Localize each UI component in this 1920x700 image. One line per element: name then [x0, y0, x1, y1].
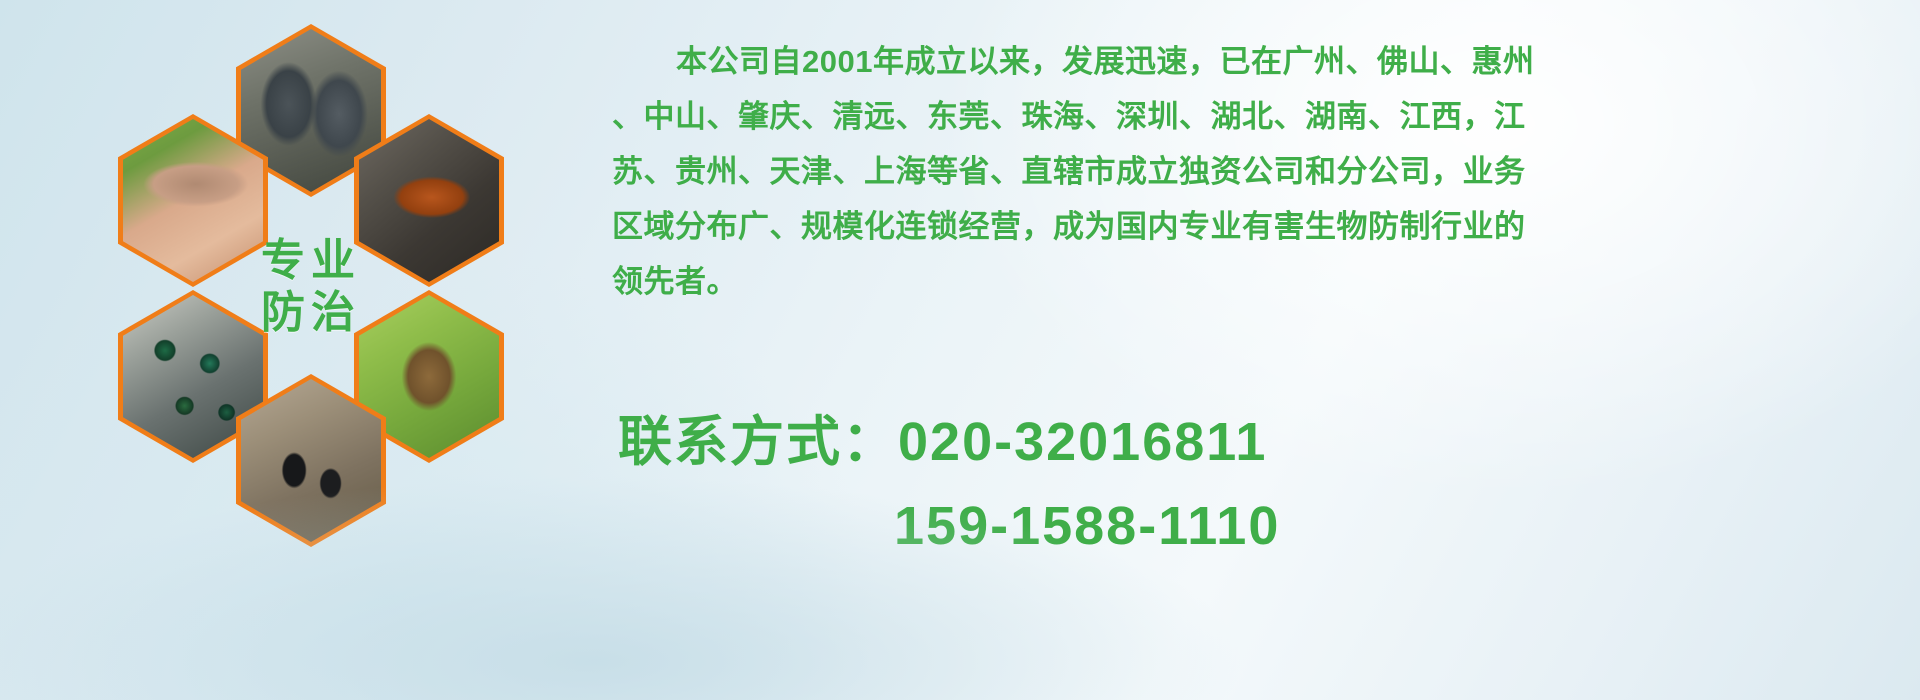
intro-line-text: 、中山、肇庆、清远、东莞、珠海、深圳、湖北、湖南、江西，江: [612, 99, 1526, 134]
phone-primary[interactable]: 020-32016811: [898, 412, 1267, 472]
intro-line: 区域分布广、规模化连锁经营，成为国内专业有害生物防制行业的: [612, 199, 1896, 254]
promotional-banner: 专业 防治 本公司自2001年成立以来，发展迅速，已在广州、佛山、惠州 、中山、…: [0, 0, 1920, 700]
badge-title-line-1: 专业: [261, 235, 361, 287]
phone-secondary[interactable]: 159-1588-1110: [894, 496, 1280, 556]
intro-line-text: 区域分布广、规模化连锁经营，成为国内专业有害生物防制行业的: [612, 209, 1526, 244]
contact-label: 联系方式：: [618, 412, 898, 472]
intro-line: 本公司自2001年成立以来，发展迅速，已在广州、佛山、惠州: [612, 34, 1896, 89]
intro-line-text: 领先者。: [612, 264, 738, 299]
intro-copy-block: 本公司自2001年成立以来，发展迅速，已在广州、佛山、惠州 、中山、肇庆、清远、…: [612, 34, 1896, 309]
intro-line: 苏、贵州、天津、上海等省、直辖市成立独资公司和分公司，业务: [612, 144, 1896, 199]
contact-secondary-line: 159-1588-1110: [618, 484, 1908, 568]
intro-line: 、中山、肇庆、清远、东莞、珠海、深圳、湖北、湖南、江西，江: [612, 89, 1896, 144]
ants-photo: [241, 379, 381, 542]
intro-line-text: 苏、贵州、天津、上海等省、直辖市成立独资公司和分公司，业务: [612, 154, 1526, 189]
hexagon-photo-cluster: 专业 防治: [88, 8, 588, 568]
hex-cell-ants-frame: [241, 379, 381, 542]
intro-line: 领先者。: [612, 254, 1896, 309]
contact-block: 联系方式：020-32016811 159-1588-1110: [618, 400, 1908, 568]
intro-paragraph: 本公司自2001年成立以来，发展迅速，已在广州、佛山、惠州 、中山、肇庆、清远、…: [612, 34, 1896, 309]
badge-title-line-2: 防治: [261, 287, 361, 339]
contact-primary-line: 联系方式：020-32016811: [618, 400, 1908, 484]
badge-title: 专业 防治: [261, 235, 361, 339]
intro-line-text: 本公司自2001年成立以来，发展迅速，已在广州、佛山、惠州: [676, 44, 1534, 79]
